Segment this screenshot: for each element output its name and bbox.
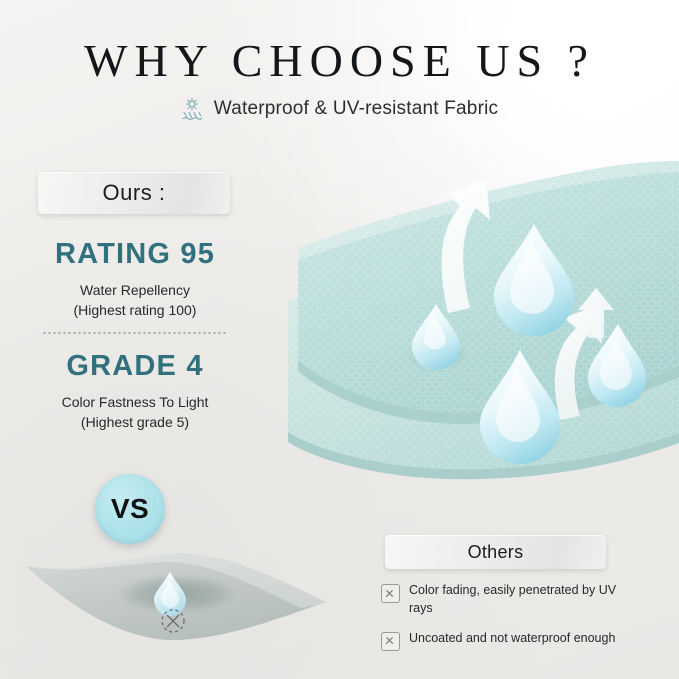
stat-block-rating: RATING 95 Water Repellency (Highest rati… (10, 238, 260, 321)
soaked-gray-fabric-illustration (18, 548, 348, 668)
stat-headline: RATING 95 (10, 238, 260, 271)
x-box-icon (381, 584, 400, 603)
sun-over-water-icon (181, 97, 203, 121)
list-item-text: Uncoated and not waterproof enough (409, 630, 615, 648)
ours-label-pill: Ours : (38, 172, 230, 214)
list-item: Uncoated and not waterproof enough (381, 630, 643, 651)
subtitle-row: Waterproof & UV-resistant Fabric (0, 97, 679, 121)
page-title: WHY CHOOSE US ? (0, 34, 679, 87)
x-box-icon (381, 632, 400, 651)
stat-headline: GRADE 4 (10, 350, 260, 383)
stat-description: Color Fastness To Light (10, 392, 260, 412)
vs-badge: VS (95, 474, 165, 544)
waterproof-fabric-illustration (288, 128, 679, 488)
stat-note: (Highest rating 100) (10, 300, 260, 320)
list-item: Color fading, easily penetrated by UV ra… (381, 582, 643, 618)
stat-block-grade: GRADE 4 Color Fastness To Light (Highest… (10, 350, 260, 433)
list-item-text: Color fading, easily penetrated by UV ra… (409, 582, 643, 618)
stat-description: Water Repellency (10, 280, 260, 300)
infographic-canvas: WHY CHOOSE US ? Waterproof & UV-resistan… (0, 0, 679, 679)
stat-note: (Highest grade 5) (10, 412, 260, 432)
subtitle-text: Waterproof & UV-resistant Fabric (214, 98, 498, 120)
stat-divider (42, 332, 228, 334)
others-label-pill: Others (385, 535, 606, 569)
others-drawback-list: Color fading, easily penetrated by UV ra… (381, 582, 643, 663)
